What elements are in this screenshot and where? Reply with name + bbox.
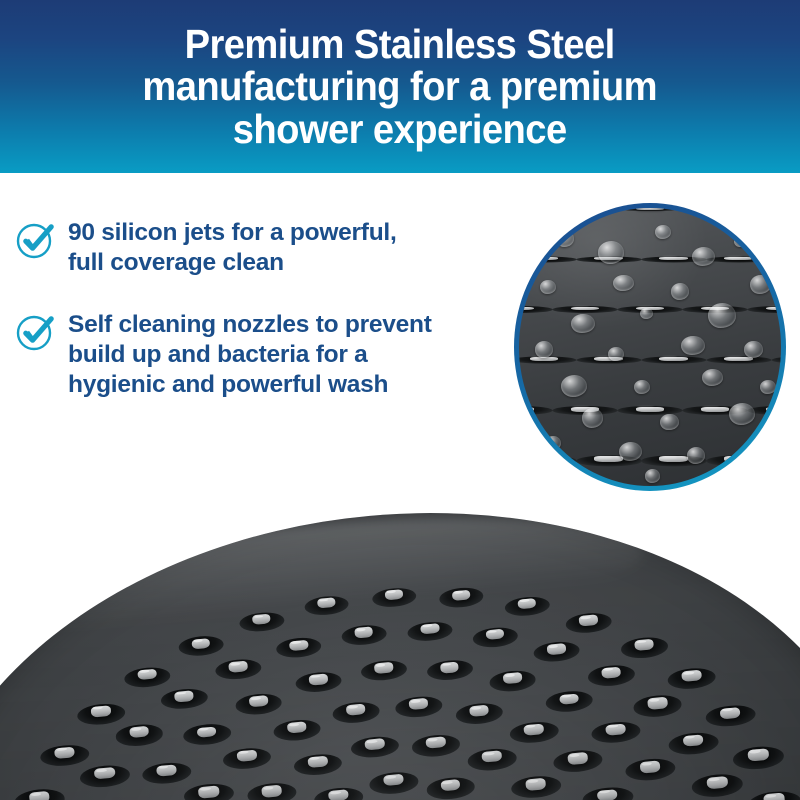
jet-nozzle [276, 636, 323, 659]
macro-jet-nozzle [553, 208, 618, 211]
jet-nozzle [489, 669, 537, 693]
water-droplet [729, 403, 755, 425]
jet-nozzle [182, 722, 231, 746]
jet-nozzle [304, 594, 350, 617]
macro-jet-nozzle [771, 356, 781, 364]
jet-nozzle [472, 625, 519, 648]
water-droplet [671, 283, 689, 300]
jet-nozzle [77, 701, 126, 725]
jet-nozzle [439, 586, 485, 609]
jet-nozzle [624, 757, 676, 783]
jet-nozzle [332, 700, 380, 724]
page-title: Premium Stainless Steel manufacturing fo… [143, 23, 658, 150]
water-droplet [655, 225, 671, 239]
jet-nozzle [369, 770, 419, 795]
jet-nozzle [79, 763, 130, 788]
jet-nozzle [394, 694, 442, 718]
list-item: 90 silicon jets for a powerful, full cov… [14, 216, 509, 278]
jet-nozzle [215, 658, 262, 681]
jet-nozzle [115, 722, 164, 747]
jet-nozzle [587, 663, 636, 687]
jet-nozzle [295, 670, 343, 694]
list-item-label: Self cleaning nozzles to prevent build u… [68, 308, 432, 400]
water-droplet [598, 241, 624, 263]
jet-nozzle [545, 689, 594, 713]
jet-nozzle [552, 748, 603, 773]
macro-jet-nozzle [519, 405, 553, 414]
macro-jet-nozzle [519, 208, 553, 211]
water-droplet [734, 236, 747, 247]
jet-nozzle [412, 733, 461, 758]
macro-jet-nozzle [618, 405, 683, 414]
jet-nozzle [633, 693, 683, 718]
jet-nozzle [371, 586, 416, 609]
shower-head-face [0, 492, 800, 800]
nozzle-macro-image [519, 208, 781, 486]
macro-jet-nozzle [747, 208, 781, 211]
nozzle-macro-closeup [514, 203, 786, 491]
water-droplet [744, 341, 762, 358]
jet-nozzle [667, 666, 717, 691]
jet-nozzle [510, 774, 561, 799]
jet-nozzle [273, 718, 322, 742]
jet-nozzle [160, 687, 208, 711]
jet-nozzle [40, 743, 91, 768]
jet-nozzle [455, 701, 504, 725]
jet-nozzle [533, 640, 581, 664]
macro-jet-nozzle [519, 306, 553, 313]
check-circle-icon [14, 310, 58, 354]
jet-nozzle [123, 665, 171, 689]
water-droplet [687, 447, 705, 464]
macro-jet-nozzle [519, 455, 576, 465]
macro-jet-nozzle [682, 208, 747, 211]
jet-nozzle [246, 781, 297, 800]
jet-nozzle [360, 659, 407, 682]
jet-nozzle [565, 611, 612, 634]
jet-nozzle [509, 720, 559, 745]
jet-nozzle [705, 703, 756, 728]
jet-nozzle [732, 744, 785, 770]
macro-jet-nozzle [706, 455, 771, 465]
water-droplet [582, 408, 603, 427]
jet-nozzle [13, 787, 65, 800]
jet-nozzle [747, 789, 800, 800]
list-item: Self cleaning nozzles to prevent build u… [14, 308, 509, 400]
jet-nozzle [591, 719, 642, 744]
macro-jet-nozzle [553, 306, 618, 313]
water-droplet [608, 347, 624, 361]
jet-nozzle [407, 620, 453, 643]
jet-nozzle [351, 735, 400, 759]
jet-nozzle [620, 635, 668, 659]
jet-nozzle [314, 785, 365, 800]
product-feature-panel: Premium Stainless Steel manufacturing fo… [0, 0, 800, 800]
jet-nozzle [504, 594, 550, 617]
jet-nozzle [667, 730, 719, 756]
water-droplet [545, 436, 561, 450]
macro-jet-nozzle [747, 306, 781, 313]
feature-list: 90 silicon jets for a powerful, full cov… [14, 216, 509, 399]
jet-nozzle [141, 760, 192, 785]
water-droplet [540, 280, 556, 294]
jet-nozzle [341, 623, 387, 646]
jet-nozzle [239, 610, 285, 633]
water-droplet [556, 230, 574, 247]
macro-jet-nozzle [706, 356, 771, 364]
macro-jet-nozzle [519, 256, 576, 262]
jet-nozzle [425, 775, 476, 800]
jet-nozzle [690, 772, 744, 799]
water-droplet [619, 442, 643, 461]
shower-head-product-image [0, 492, 800, 800]
jet-nozzle [235, 692, 283, 716]
jet-nozzle [581, 785, 634, 800]
water-droplet [750, 275, 771, 294]
water-droplet [571, 314, 595, 333]
water-droplet [750, 436, 771, 453]
list-item-label: 90 silicon jets for a powerful, full cov… [68, 216, 397, 278]
jet-nozzle [426, 658, 474, 682]
jet-nozzle [178, 634, 225, 657]
water-droplet [640, 308, 653, 319]
header-banner: Premium Stainless Steel manufacturing fo… [0, 0, 800, 173]
macro-jet-nozzle [618, 208, 683, 211]
jet-nozzle [467, 747, 517, 772]
macro-jet-nozzle [641, 356, 706, 364]
macro-jet-nozzle [771, 455, 781, 465]
jet-nozzle [222, 746, 272, 771]
macro-jet-nozzle [706, 256, 771, 262]
jet-nozzle-array [0, 492, 800, 800]
macro-jet-nozzle [771, 256, 781, 262]
jet-nozzle [183, 782, 234, 800]
water-droplet [708, 303, 737, 328]
jet-nozzle [293, 752, 343, 777]
water-droplet [702, 369, 723, 386]
check-circle-icon [14, 218, 58, 262]
